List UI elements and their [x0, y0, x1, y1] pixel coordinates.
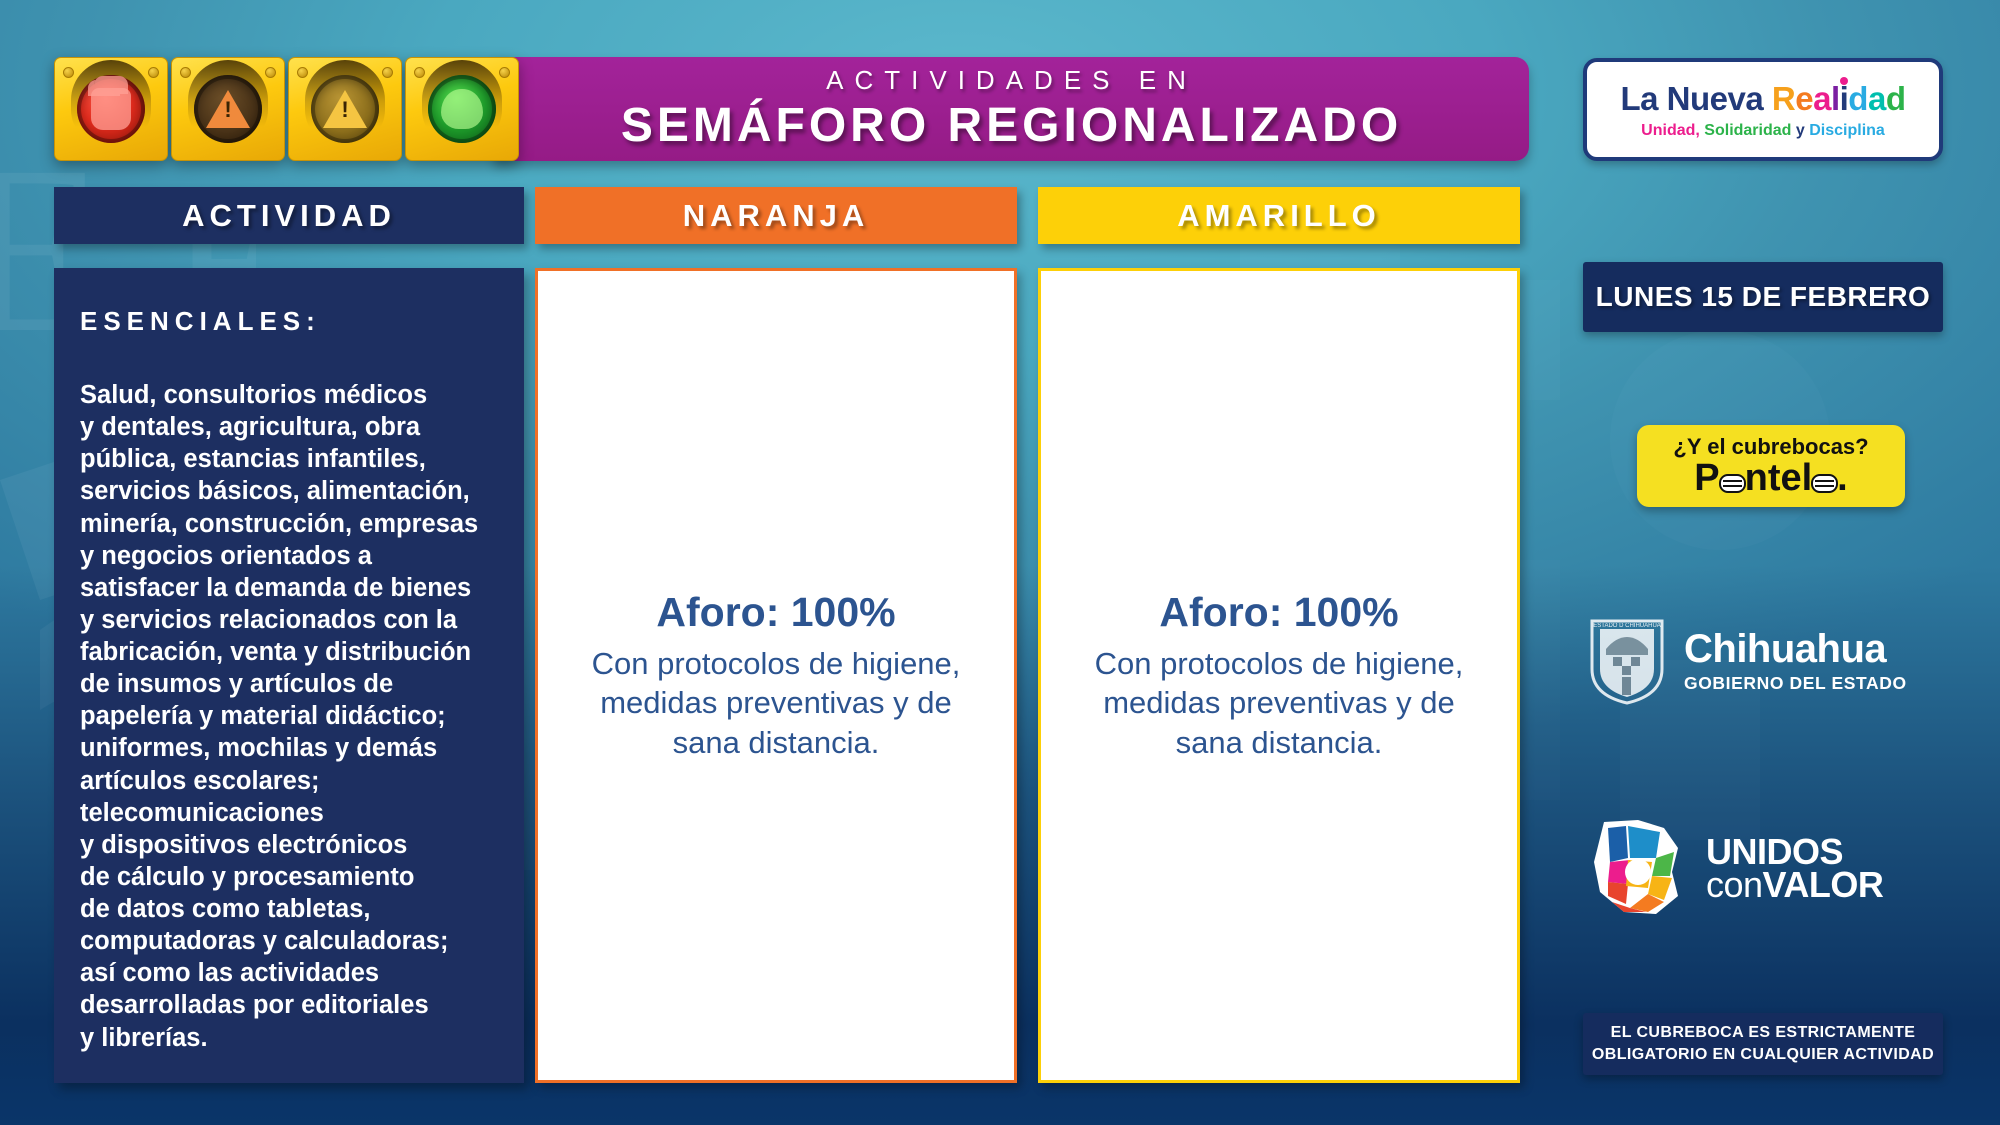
chihuahua-map-icon [1586, 818, 1692, 918]
face-mask-icon [1811, 474, 1838, 493]
mask-disclaimer-line2: OBLIGATORIO EN CUALQUIER ACTIVIDAD [1592, 1044, 1934, 1066]
header: ! ! ACTIVIDADES EN SEMÁFORO REGIONALIZAD… [54, 57, 1529, 161]
brand-letter-l: l [1831, 80, 1840, 117]
cubrebocas-answer-period: . [1837, 457, 1848, 499]
column-header-amarillo: AMARILLO [1038, 187, 1520, 244]
unidos-logo-valor: VALOR [1763, 864, 1884, 905]
tagline-solidaridad: Solidaridad [1704, 122, 1791, 139]
face-mask-icon [1719, 474, 1746, 493]
hand-icon [77, 75, 145, 143]
warning-triangle-icon: ! [311, 75, 379, 143]
tagline-unidad: Unidad, [1641, 122, 1700, 139]
page-title: SEMÁFORO REGIONALIZADO [621, 98, 1402, 153]
aforo-card-naranja-subtitle: Con protocolos de higiene, medidas preve… [576, 644, 976, 761]
blob-icon [428, 75, 496, 143]
brand-letter-d1: d [1848, 80, 1868, 117]
cubrebocas-answer-ntel: ntel [1745, 457, 1813, 499]
brand-logo-la-nueva-realidad: La Nueva Realidad Unidad, Solidaridad y … [1583, 58, 1943, 161]
column-header-naranja: NARANJA [535, 187, 1017, 244]
column-header-amarillo-label: AMARILLO [1177, 198, 1381, 234]
brand-logo-tagline: Unidad, Solidaridad y Disciplina [1641, 122, 1885, 140]
brand-letter-r: R [1772, 80, 1795, 117]
chihuahua-logo-subtitle: GOBIERNO DEL ESTADO [1684, 673, 1907, 694]
column-header-actividad: ACTIVIDAD [54, 187, 524, 244]
aforo-card-naranja-title: Aforo: 100% [656, 589, 895, 636]
brand-letter-d2: d [1886, 80, 1906, 117]
cubrebocas-answer: Pntel. [1694, 459, 1847, 497]
unidos-logo-con: con [1706, 864, 1763, 905]
unidos-logo-line2: conVALOR [1706, 868, 1883, 901]
activity-panel-heading: ESENCIALES: [80, 306, 496, 337]
tagline-y: y [1796, 122, 1805, 139]
column-header-naranja-label: NARANJA [683, 198, 870, 234]
aforo-card-amarillo-subtitle: Con protocolos de higiene, medidas preve… [1079, 644, 1479, 761]
aforo-card-amarillo-title: Aforo: 100% [1159, 589, 1398, 636]
chihuahua-crest-icon: ESTADO D CHIHUAHUA [1586, 615, 1668, 707]
chihuahua-logo-name: Chihuahua [1684, 629, 1907, 669]
aforo-card-amarillo: Aforo: 100% Con protocolos de higiene, m… [1038, 268, 1520, 1083]
date-badge: LUNES 15 DE FEBRERO [1583, 262, 1943, 332]
activity-panel-body: Salud, consultorios médicos y dentales, … [80, 379, 496, 1054]
mask-disclaimer-line1: EL CUBREBOCA ES ESTRICTAMENTE [1611, 1022, 1916, 1044]
unidos-con-valor-logo: UNIDOS conVALOR [1586, 818, 1938, 918]
brand-letter-a1: a [1813, 80, 1831, 117]
tagline-disciplina: Disciplina [1809, 122, 1885, 139]
cubrebocas-badge: ¿Y el cubrebocas? Pntel. [1637, 425, 1905, 507]
brand-letter-i: i [1840, 80, 1849, 117]
traffic-light-green [405, 57, 519, 161]
activity-panel: ESENCIALES: Salud, consultorios médicos … [54, 268, 524, 1083]
aforo-card-naranja: Aforo: 100% Con protocolos de higiene, m… [535, 268, 1017, 1083]
brand-logo-la-nueva: La Nueva [1620, 80, 1771, 117]
svg-text:ESTADO D CHIHUAHUA: ESTADO D CHIHUAHUA [1593, 623, 1661, 629]
warning-triangle-icon: ! [194, 75, 262, 143]
brand-logo-line1: La Nueva Realidad [1620, 80, 1905, 118]
chihuahua-government-logo: ESTADO D CHIHUAHUA Chihuahua GOBIERNO DE… [1586, 615, 1938, 707]
cubrebocas-answer-p: P [1694, 457, 1719, 499]
title-kicker: ACTIVIDADES EN [826, 65, 1197, 96]
mask-disclaimer: EL CUBREBOCA ES ESTRICTAMENTE OBLIGATORI… [1583, 1013, 1943, 1075]
date-badge-label: LUNES 15 DE FEBRERO [1596, 281, 1931, 313]
traffic-light-graphic: ! ! [54, 57, 519, 161]
traffic-light-yellow: ! [288, 57, 402, 161]
brand-letter-e: e [1795, 80, 1813, 117]
title-banner: ACTIVIDADES EN SEMÁFORO REGIONALIZADO [494, 57, 1529, 161]
traffic-light-orange: ! [171, 57, 285, 161]
column-header-actividad-label: ACTIVIDAD [182, 198, 396, 234]
traffic-light-red [54, 57, 168, 161]
brand-letter-a2: a [1868, 80, 1886, 117]
cubrebocas-question: ¿Y el cubrebocas? [1673, 436, 1868, 458]
